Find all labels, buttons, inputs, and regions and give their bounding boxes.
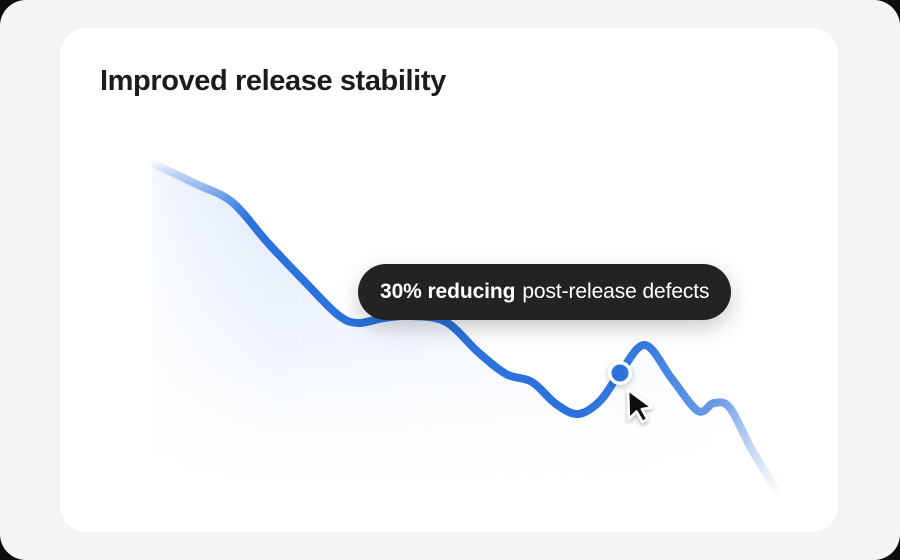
arrow-pointer-icon bbox=[622, 388, 656, 428]
page-title: Improved release stability bbox=[100, 65, 446, 98]
page-root: Improved release stability bbox=[0, 0, 900, 560]
tooltip-emphasis: 30% reducing bbox=[380, 280, 515, 304]
tooltip-rest: post-release defects bbox=[522, 280, 709, 304]
chart-tooltip: 30% reducing post-release defects bbox=[358, 264, 731, 320]
